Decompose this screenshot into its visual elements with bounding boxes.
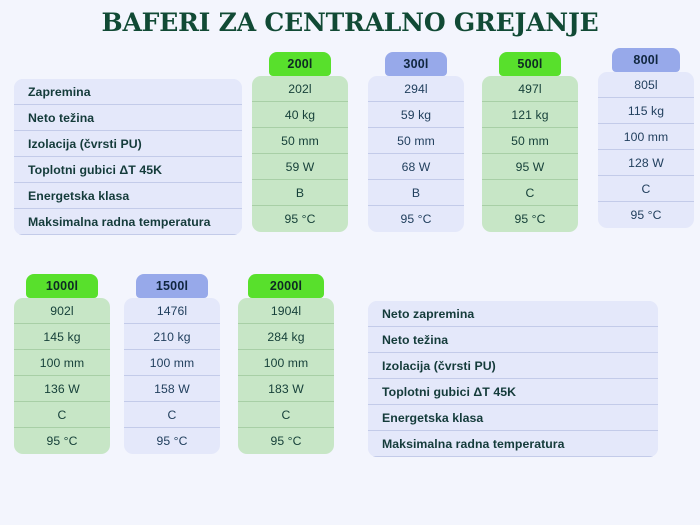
spec-cell: 136 W — [14, 376, 110, 402]
spec-cell: 210 kg — [124, 324, 220, 350]
spec-cell: 100 mm — [124, 350, 220, 376]
spec-cell: 50 mm — [482, 128, 578, 154]
spec-column-300l[interactable]: 300l294l59 kg50 mm68 WB95 °C — [368, 52, 464, 232]
label-row: Maksimalna radna temperatura — [368, 431, 658, 457]
column-body: 1476l210 kg100 mm158 WC95 °C — [124, 298, 220, 454]
infographic-canvas: BAFERI ZA CENTRALNO GREJANJE ZapreminaNe… — [0, 0, 700, 525]
spec-cell: 95 °C — [482, 206, 578, 232]
label-row: Toplotni gubici ΔT 45K — [14, 157, 242, 183]
spec-cell: C — [238, 402, 334, 428]
column-body: 902l145 kg100 mm136 WC95 °C — [14, 298, 110, 454]
spec-cell: 1476l — [124, 298, 220, 324]
spec-cell: C — [482, 180, 578, 206]
spec-column-200l[interactable]: 200l202l40 kg50 mm59 WB95 °C — [252, 52, 348, 232]
column-header-tab[interactable]: 1500l — [136, 274, 208, 298]
label-row: Izolacija (čvrsti PU) — [368, 353, 658, 379]
spec-cell: 902l — [14, 298, 110, 324]
column-header-tab[interactable]: 200l — [269, 52, 331, 76]
spec-cell: B — [252, 180, 348, 206]
label-row: Maksimalna radna temperatura — [14, 209, 242, 235]
column-body: 294l59 kg50 mm68 WB95 °C — [368, 76, 464, 232]
spec-cell: 95 °C — [238, 428, 334, 454]
spec-cell: 128 W — [598, 150, 694, 176]
column-body: 497l121 kg50 mm95 WC95 °C — [482, 76, 578, 232]
column-header-tab[interactable]: 500l — [499, 52, 561, 76]
spec-column-2000l[interactable]: 2000l1904l284 kg100 mm183 WC95 °C — [238, 274, 334, 454]
label-row: Neto težina — [368, 327, 658, 353]
spec-column-1500l[interactable]: 1500l1476l210 kg100 mm158 WC95 °C — [124, 274, 220, 454]
label-row: Neto težina — [14, 105, 242, 131]
spec-cell: 100 mm — [14, 350, 110, 376]
spec-cell: 158 W — [124, 376, 220, 402]
label-row: Neto zapremina — [368, 301, 658, 327]
column-body: 1904l284 kg100 mm183 WC95 °C — [238, 298, 334, 454]
spec-cell: 40 kg — [252, 102, 348, 128]
spec-cell: 202l — [252, 76, 348, 102]
spec-cell: 805l — [598, 72, 694, 98]
column-header-tab[interactable]: 300l — [385, 52, 447, 76]
spec-cell: 183 W — [238, 376, 334, 402]
column-body: 805l115 kg100 mm128 WC95 °C — [598, 72, 694, 228]
spec-cell: 95 °C — [14, 428, 110, 454]
column-header-tab[interactable]: 2000l — [248, 274, 324, 298]
spec-cell: C — [598, 176, 694, 202]
label-row: Zapremina — [14, 79, 242, 105]
spec-cell: 100 mm — [598, 124, 694, 150]
spec-cell: 284 kg — [238, 324, 334, 350]
column-header-tab[interactable]: 800l — [612, 48, 680, 72]
spec-cell: 50 mm — [252, 128, 348, 154]
spec-cell: 95 °C — [252, 206, 348, 232]
label-row: Toplotni gubici ΔT 45K — [368, 379, 658, 405]
column-header-tab[interactable]: 1000l — [26, 274, 98, 298]
spec-cell: 95 °C — [598, 202, 694, 228]
spec-cell: 1904l — [238, 298, 334, 324]
bottom-label-panel: Neto zapreminaNeto težinaIzolacija (čvrs… — [368, 301, 658, 457]
spec-cell: 497l — [482, 76, 578, 102]
spec-cell: 59 kg — [368, 102, 464, 128]
spec-column-1000l[interactable]: 1000l902l145 kg100 mm136 WC95 °C — [14, 274, 110, 454]
column-body: 202l40 kg50 mm59 WB95 °C — [252, 76, 348, 232]
spec-column-500l[interactable]: 500l497l121 kg50 mm95 WC95 °C — [482, 52, 578, 232]
spec-cell: B — [368, 180, 464, 206]
spec-column-800l[interactable]: 800l805l115 kg100 mm128 WC95 °C — [598, 48, 694, 228]
spec-cell: 121 kg — [482, 102, 578, 128]
spec-cell: 294l — [368, 76, 464, 102]
spec-cell: 100 mm — [238, 350, 334, 376]
label-row: Izolacija (čvrsti PU) — [14, 131, 242, 157]
label-row: Energetska klasa — [368, 405, 658, 431]
spec-cell: 115 kg — [598, 98, 694, 124]
page-title: BAFERI ZA CENTRALNO GREJANJE — [0, 8, 700, 37]
spec-cell: C — [14, 402, 110, 428]
spec-cell: 50 mm — [368, 128, 464, 154]
spec-cell: 59 W — [252, 154, 348, 180]
spec-cell: 95 °C — [368, 206, 464, 232]
spec-cell: 68 W — [368, 154, 464, 180]
spec-cell: C — [124, 402, 220, 428]
top-label-panel: ZapreminaNeto težinaIzolacija (čvrsti PU… — [14, 79, 242, 235]
spec-cell: 95 °C — [124, 428, 220, 454]
spec-cell: 95 W — [482, 154, 578, 180]
label-row: Energetska klasa — [14, 183, 242, 209]
spec-cell: 145 kg — [14, 324, 110, 350]
